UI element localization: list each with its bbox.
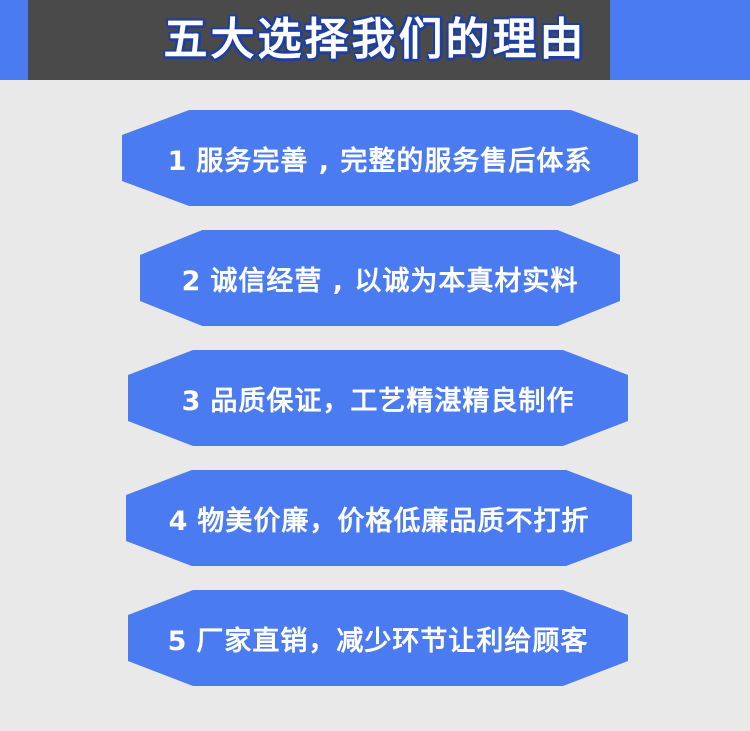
reason-number-2: 2 bbox=[182, 266, 201, 297]
list-item: 1 服务完善 , 完整的服务售后体系 bbox=[0, 102, 750, 222]
reason-text-1: 服务完善 , 完整的服务售后体系 bbox=[196, 139, 592, 178]
reason-banner-2: 2 诚信经营 , 以诚为本真材实料 bbox=[140, 230, 620, 326]
reason-text-3: 品质保证，工艺精湛精良制作 bbox=[210, 379, 574, 418]
reasons-list: 1 服务完善 , 完整的服务售后体系 2 诚信经营 , 以诚为本真材实料 3 品… bbox=[0, 80, 750, 731]
reason-banner-3-content: 3 品质保证，工艺精湛精良制作 bbox=[182, 379, 575, 418]
reason-text-5: 厂家直销，减少环节让利给顾客 bbox=[196, 619, 588, 658]
reason-banner-5-content: 5 厂家直销，减少环节让利给顾客 bbox=[168, 619, 589, 658]
reason-banner-1-content: 1 服务完善 , 完整的服务售后体系 bbox=[168, 139, 593, 178]
reason-banner-3: 3 品质保证，工艺精湛精良制作 bbox=[128, 350, 628, 446]
reason-number-4: 4 bbox=[169, 506, 188, 537]
reason-number-1: 1 bbox=[168, 146, 187, 177]
list-item: 5 厂家直销，减少环节让利给顾客 bbox=[0, 582, 750, 702]
reason-text-4: 物美价廉，价格低廉品质不打折 bbox=[197, 499, 589, 538]
list-item: 4 物美价廉，价格低廉品质不打折 bbox=[0, 462, 750, 582]
reason-number-5: 5 bbox=[168, 626, 187, 657]
page-title: 五大选择我们的理由 bbox=[0, 0, 750, 80]
page-header: 五大选择我们的理由 bbox=[0, 0, 750, 80]
reason-banner-4: 4 物美价廉，价格低廉品质不打折 bbox=[126, 470, 632, 566]
reason-banner-1: 1 服务完善 , 完整的服务售后体系 bbox=[122, 110, 638, 206]
list-item: 2 诚信经营 , 以诚为本真材实料 bbox=[0, 222, 750, 342]
reason-banner-2-content: 2 诚信经营 , 以诚为本真材实料 bbox=[182, 259, 579, 298]
reason-number-3: 3 bbox=[182, 386, 201, 417]
promo-page: 五大选择我们的理由 1 服务完善 , 完整的服务售后体系 2 诚信经营 , 以诚… bbox=[0, 0, 750, 731]
reason-text-2: 诚信经营 , 以诚为本真材实料 bbox=[210, 259, 578, 298]
list-item: 3 品质保证，工艺精湛精良制作 bbox=[0, 342, 750, 462]
reason-banner-5: 5 厂家直销，减少环节让利给顾客 bbox=[128, 590, 628, 686]
reason-banner-4-content: 4 物美价廉，价格低廉品质不打折 bbox=[169, 499, 590, 538]
